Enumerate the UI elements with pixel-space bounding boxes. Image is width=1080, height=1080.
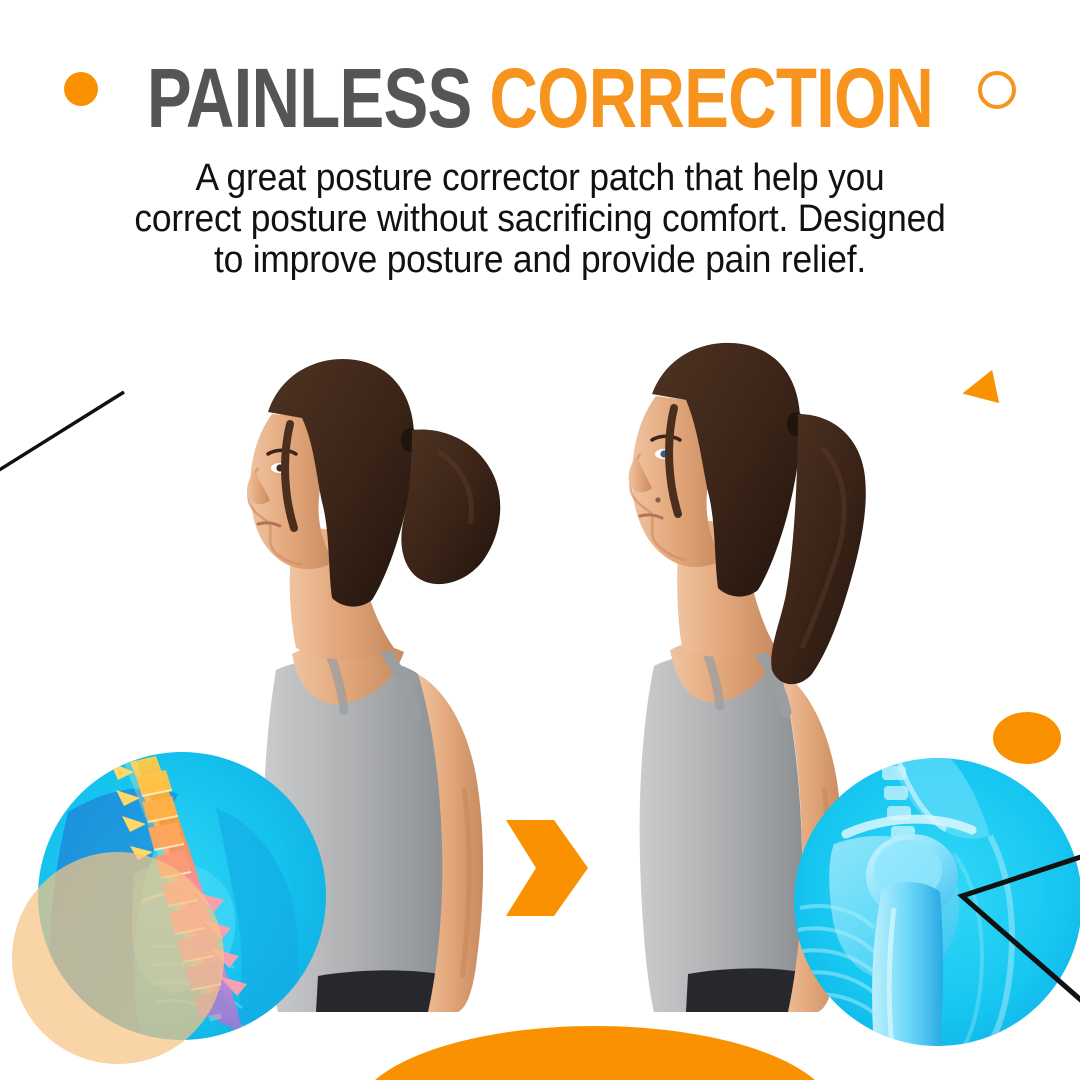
patch-highlight-overlay: [12, 852, 224, 1064]
page-subtitle-line-1: A great posture corrector patch that hel…: [105, 158, 975, 199]
orange-triangle-icon: [959, 370, 999, 410]
orange-arc-icon: [355, 1026, 835, 1080]
orange-oval-icon: [993, 712, 1061, 764]
page-subtitle-line-3: to improve posture and provide pain reli…: [105, 240, 975, 281]
page-title-part-two: CORRECTION: [489, 51, 933, 145]
black-diagonal-line-icon: [0, 388, 146, 474]
page-title-part-one: PAINLESS: [147, 51, 472, 145]
orange-ring-icon: [978, 71, 1016, 109]
orange-dot-icon: [64, 72, 98, 106]
transition-arrow-icon: [506, 820, 588, 916]
black-angle-bracket-icon: [940, 840, 1080, 1020]
poster-canvas: PAINLESS CORRECTION A great posture corr…: [0, 0, 1080, 1080]
page-subtitle-line-2: correct posture without sacrificing comf…: [105, 199, 975, 240]
page-title: PAINLESS CORRECTION: [108, 52, 972, 144]
page-subtitle: A great posture corrector patch that hel…: [105, 158, 975, 281]
